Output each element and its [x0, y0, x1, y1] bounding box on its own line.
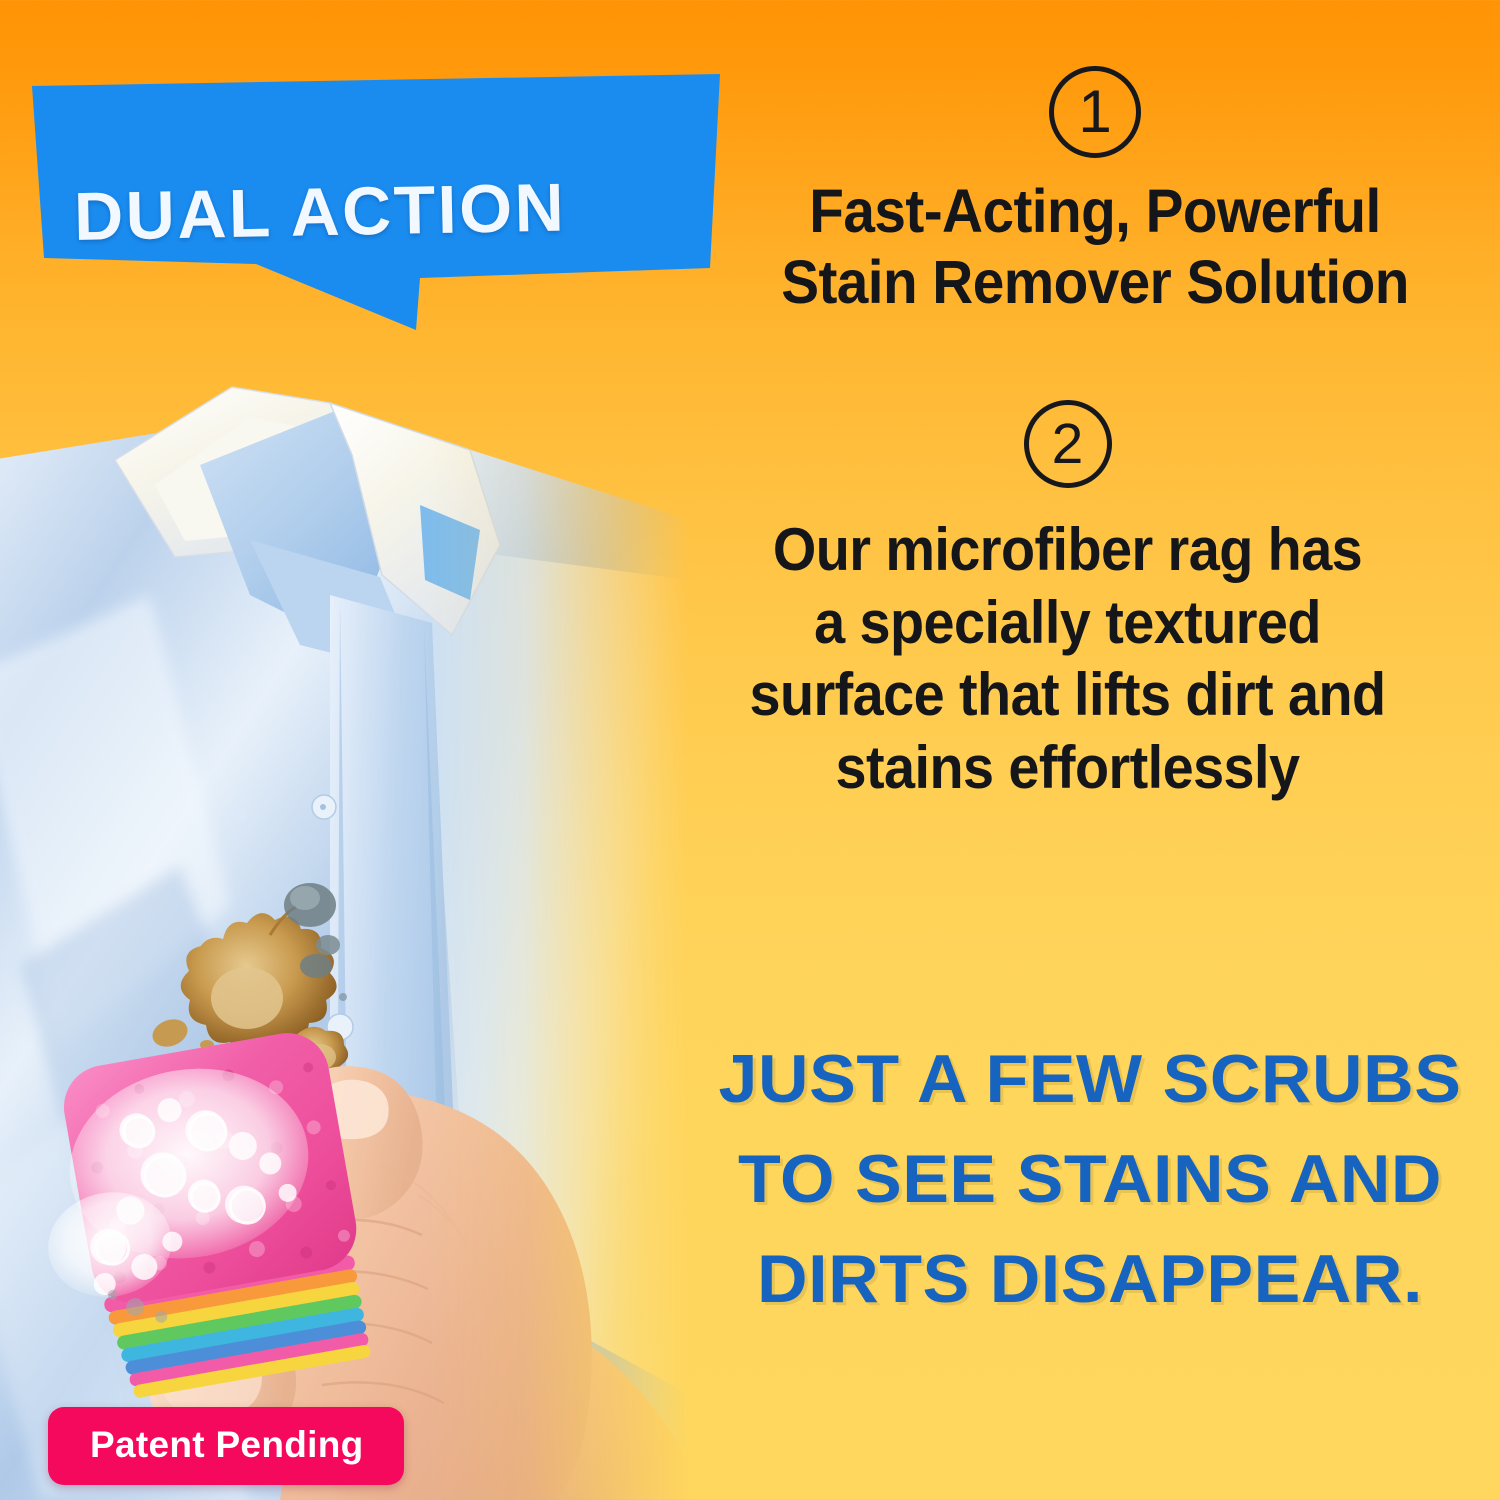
step-1-text: Fast-Acting, Powerful Stain Remover Solu…: [728, 176, 1463, 318]
step-1-line-1: Fast-Acting, Powerful: [728, 176, 1463, 247]
product-photo: [0, 345, 690, 1500]
step-1-number-badge: 1: [1049, 66, 1141, 158]
step-1-line-2: Stain Remover Solution: [728, 247, 1463, 318]
dual-action-label: DUAL ACTION: [73, 166, 694, 256]
step-2-number-badge: 2: [1024, 400, 1112, 488]
headline-line-2: TO SEE STAINS AND: [678, 1130, 1500, 1230]
step-1: 1 Fast-Acting, Powerful Stain Remover So…: [700, 66, 1490, 318]
headline-line-3: DIRTS DISAPPEAR.: [678, 1230, 1500, 1330]
step-2-line-1: Our microfiber rag has: [675, 514, 1461, 587]
step-2-line-3: surface that lifts dirt and: [675, 659, 1461, 732]
step-2-line-2: a specially textured: [675, 587, 1461, 660]
step-2-text: Our microfiber rag has a specially textu…: [675, 514, 1461, 804]
patent-pending-badge: Patent Pending: [48, 1407, 404, 1485]
headline: JUST A FEW SCRUBS TO SEE STAINS AND DIRT…: [678, 1030, 1500, 1330]
headline-line-1: JUST A FEW SCRUBS: [678, 1030, 1500, 1130]
step-2-line-4: stains effortlessly: [675, 732, 1461, 805]
dual-action-banner: DUAL ACTION: [22, 72, 722, 332]
step-2: 2 Our microfiber rag has a specially tex…: [645, 400, 1490, 804]
